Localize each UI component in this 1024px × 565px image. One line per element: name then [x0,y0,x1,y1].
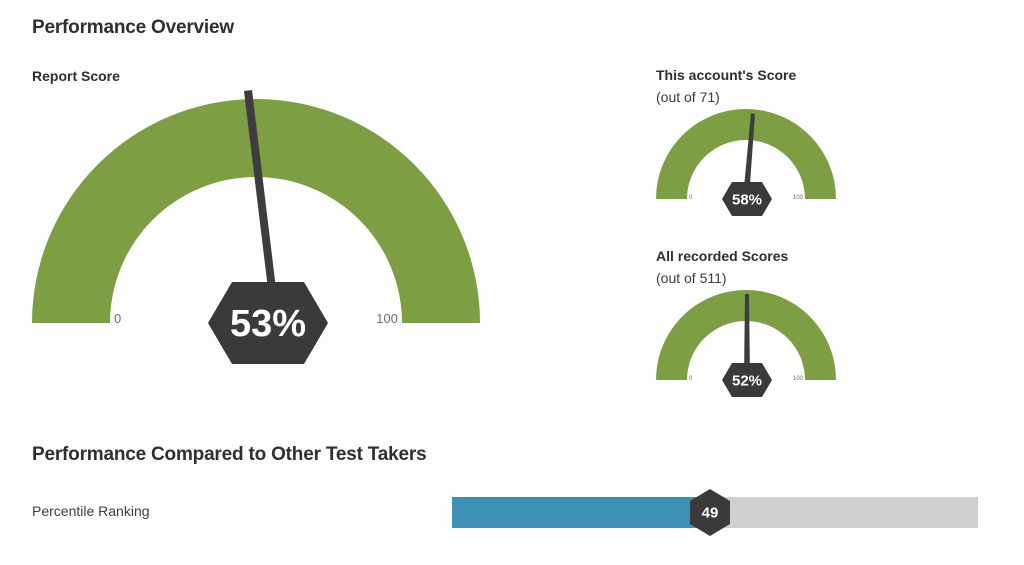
gauge-value-text: 58% [732,192,762,209]
percentile-bar-marker[interactable]: 49 [688,489,732,536]
gauge-max-tick-label: 100 [793,195,804,201]
gauge-all-scores-svg: 0 100 52% [652,291,842,421]
percentile-marker-value: 49 [701,505,718,522]
performance-report-page: Performance Overview Report Score 0 100 … [0,0,1024,565]
compare-section-title: Performance Compared to Other Test Taker… [32,444,426,466]
gauge-min-tick-label: 0 [689,195,693,201]
gauge-max-tick-label: 100 [793,376,804,382]
gauge-account-score-svg: 0 100 58% [652,110,842,240]
report-score-label: Report Score [32,68,120,84]
account-score-sublabel: (out of 71) [656,89,720,105]
gauge-report-score: 0 100 53% [28,84,484,384]
page-title: Performance Overview [32,17,234,39]
gauge-max-tick-label: 100 [376,311,398,326]
percentile-marker-svg: 49 [688,489,732,536]
percentile-bar-track[interactable]: 49 [452,497,978,528]
gauge-report-score-svg: 0 100 53% [28,84,484,384]
gauge-min-tick-label: 0 [689,376,693,382]
all-scores-sublabel: (out of 511) [656,270,727,286]
account-score-label: This account's Score [656,67,796,83]
gauge-account-score: 0 100 58% [652,110,842,240]
percentile-ranking-label: Percentile Ranking [32,503,150,519]
percentile-bar-fill [452,497,710,528]
percentile-ranking-row: Percentile Ranking 49 [0,484,1024,544]
gauge-min-tick-label: 0 [114,311,121,326]
gauge-all-scores: 0 100 52% [652,291,842,421]
gauge-value-text: 53% [230,303,306,345]
gauge-value-text: 52% [732,373,762,390]
all-scores-label: All recorded Scores [656,248,788,264]
